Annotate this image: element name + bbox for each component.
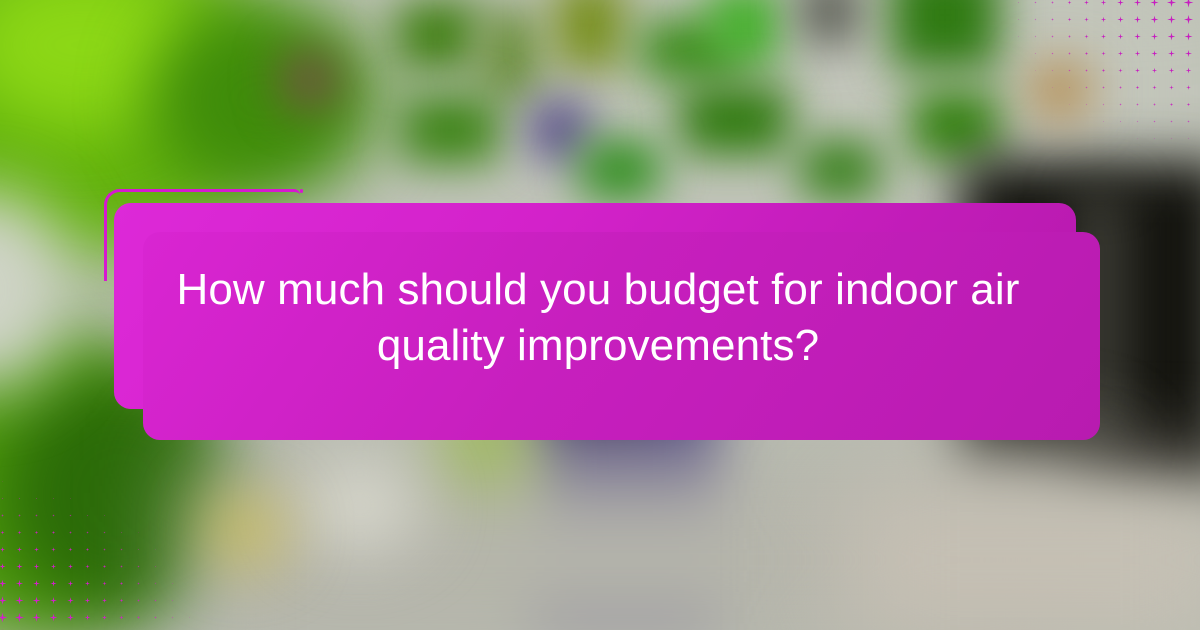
title-card-group: How much should you budget for indoor ai… [0, 0, 1200, 630]
social-card-canvas: How much should you budget for indoor ai… [0, 0, 1200, 630]
card-title-text: How much should you budget for indoor ai… [143, 262, 1053, 374]
